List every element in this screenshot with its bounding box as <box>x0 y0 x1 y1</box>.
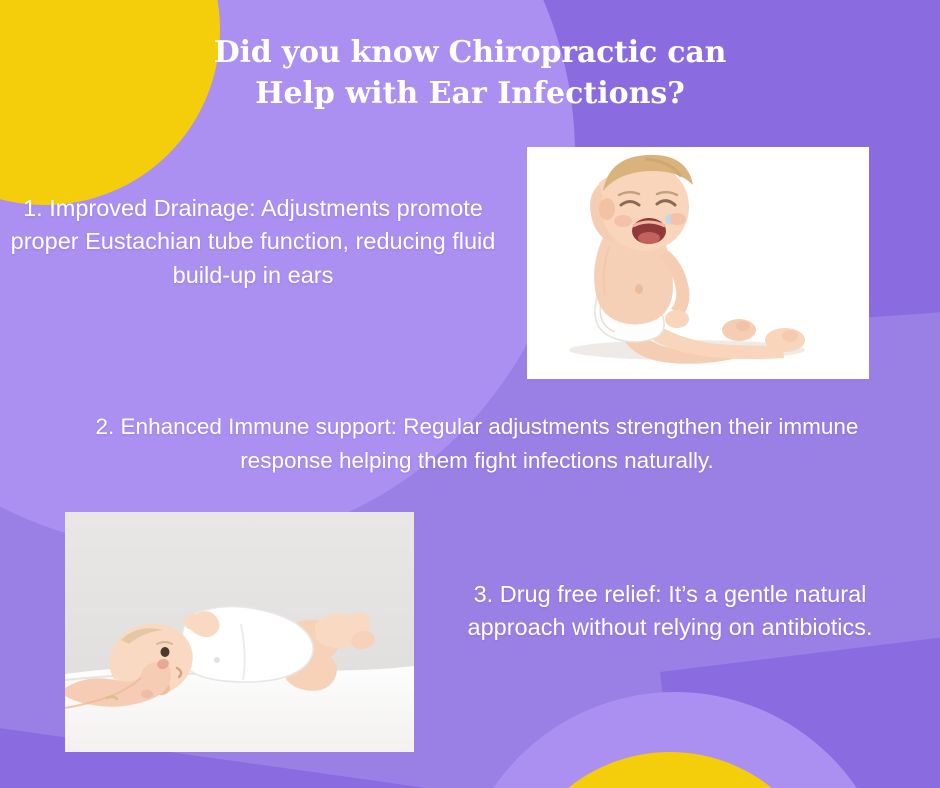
crying-baby-illustration <box>527 147 869 379</box>
poster-canvas: Did you know Chiropractic can Help with … <box>0 0 940 788</box>
baby-adjustment-illustration <box>65 512 414 752</box>
benefit-item-3: 3. Drug free relief: It’s a gentle natur… <box>452 578 888 645</box>
page-title: Did you know Chiropractic can Help with … <box>0 32 940 115</box>
crying-baby-holding-ear-photo <box>527 147 869 379</box>
benefit-item-1: 1. Improved Drainage: Adjustments promot… <box>8 192 498 292</box>
benefit-item-2: 2. Enhanced Immune support: Regular adju… <box>82 410 872 478</box>
poster-content: Did you know Chiropractic can Help with … <box>0 0 940 788</box>
page-title-line-2: Help with Ear Infections? <box>120 73 820 114</box>
baby-receiving-adjustment-photo <box>65 512 414 752</box>
page-title-line-1: Did you know Chiropractic can <box>120 32 820 73</box>
